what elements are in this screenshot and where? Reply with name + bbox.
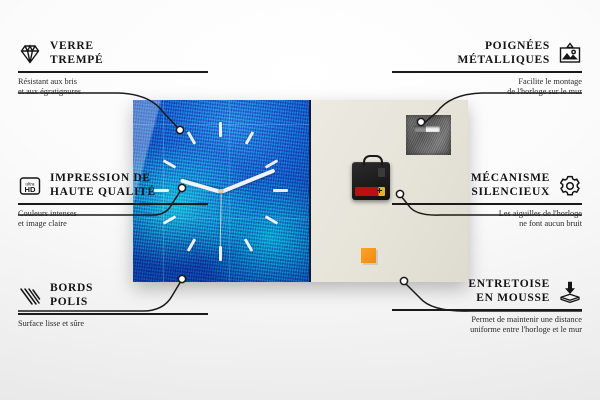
callout-desc-line2: et image claire — [18, 219, 208, 230]
infographic-canvas: VERRE TREMPÉ Résistant aux bris et aux é… — [0, 0, 600, 400]
callout-impression-haute-qualite[interactable]: ultra HD IMPRESSION DE HAUTE QUALITÉ Cou… — [18, 172, 208, 230]
callout-desc-line1: Résistant aux bris — [18, 77, 208, 88]
foam-spacer-pad — [361, 248, 376, 263]
clock-hub — [219, 189, 223, 193]
ultra-hd-icon: ultra HD — [18, 174, 42, 198]
callout-desc-line1: Les aiguilles de l'horloge — [392, 209, 582, 220]
ultra-hd-icon-bottom: HD — [25, 185, 36, 194]
callout-title-line1: MÉCANISME — [471, 172, 550, 186]
callout-desc-line2: uniforme entre l'horloge et le mur — [392, 325, 582, 336]
callout-title-line2: MÉTALLIQUES — [458, 54, 550, 68]
callout-desc-line1: Permet de maintenir une distance — [392, 315, 582, 326]
diamond-icon — [18, 42, 42, 66]
callout-poignees-metalliques[interactable]: POIGNÉES MÉTALLIQUES Facilite le montage… — [392, 40, 582, 98]
callout-title-line1: BORDS — [50, 282, 93, 296]
callout-rule — [18, 71, 208, 73]
callout-title-line2: TREMPÉ — [50, 54, 103, 68]
callout-title-line1: IMPRESSION DE — [50, 172, 156, 186]
hanging-loop-icon — [363, 155, 383, 166]
callout-rule — [392, 203, 582, 205]
picture-frame-hanger-icon — [558, 42, 582, 66]
callout-desc-line2: et aux égratignures — [18, 87, 208, 98]
metal-hanger-plate — [406, 115, 451, 155]
callout-rule — [18, 203, 208, 205]
callout-desc-line1: Surface lisse et sûre — [18, 319, 208, 330]
polished-edges-icon — [18, 284, 42, 308]
callout-title-line2: HAUTE QUALITÉ — [50, 186, 156, 200]
foam-spacer-icon — [558, 280, 582, 304]
time-set-dial — [378, 168, 385, 177]
gear-icon — [558, 174, 582, 198]
callout-bords-polis[interactable]: BORDS POLIS Surface lisse et sûre — [18, 282, 208, 329]
callout-title-line1: ENTRETOISE — [468, 278, 550, 292]
hour-tick — [219, 246, 222, 261]
callout-desc-line1: Facilite le montage — [392, 77, 582, 88]
callout-entretoise-en-mousse[interactable]: ENTRETOISE EN MOUSSE Permet de maintenir… — [392, 278, 582, 336]
hour-tick — [273, 189, 288, 192]
callout-title-line2: EN MOUSSE — [468, 292, 550, 306]
callout-title-line1: POIGNÉES — [458, 40, 550, 54]
callout-rule — [392, 309, 582, 311]
hour-tick — [219, 122, 222, 137]
hanger-slot — [414, 126, 440, 132]
battery — [355, 187, 385, 196]
callout-rule — [392, 71, 582, 73]
callout-desc-line1: Couleurs intenses — [18, 209, 208, 220]
callout-desc-line2: ne font aucun bruit — [392, 219, 582, 230]
callout-title-line2: SILENCIEUX — [471, 186, 550, 200]
callout-title-line2: POLIS — [50, 296, 93, 310]
callout-rule — [18, 313, 208, 315]
callout-mecanisme-silencieux[interactable]: MÉCANISME SILENCIEUX Les aiguilles de l'… — [392, 172, 582, 230]
callout-title-line1: VERRE — [50, 40, 103, 54]
quartz-movement — [352, 162, 390, 200]
callout-verre-trempe[interactable]: VERRE TREMPÉ Résistant aux bris et aux é… — [18, 40, 208, 98]
callout-desc-line2: de l'horloge sur le mur — [392, 87, 582, 98]
